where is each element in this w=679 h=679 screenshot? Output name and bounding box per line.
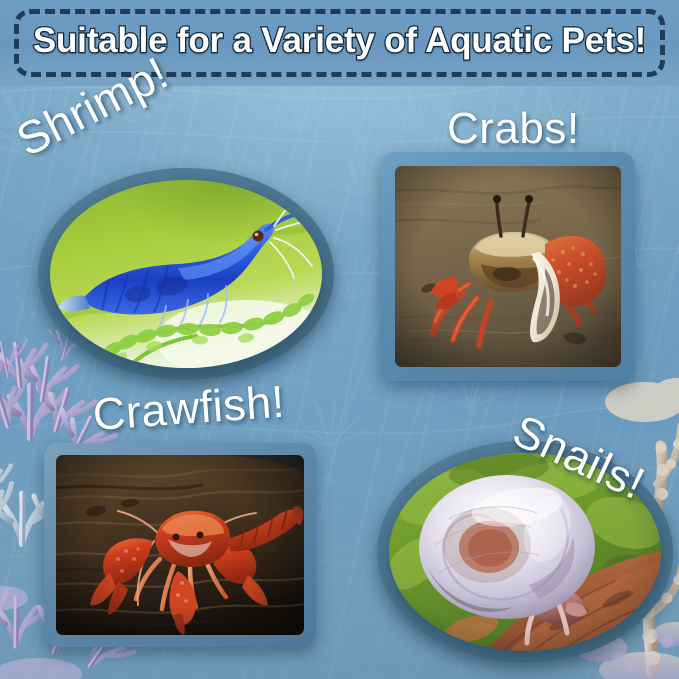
poster-canvas: Suitable for a Variety of Aquatic Pets! <box>0 0 679 679</box>
crabs-photo[interactable] <box>395 166 621 367</box>
page-title: Suitable for a Variety of Aquatic Pets! <box>0 16 679 66</box>
crabs-label: Crabs! <box>447 104 580 154</box>
shrimp-photo[interactable] <box>50 180 322 368</box>
crawfish-photo[interactable] <box>56 455 304 635</box>
crawfish-label: Crawfish! <box>91 376 286 441</box>
